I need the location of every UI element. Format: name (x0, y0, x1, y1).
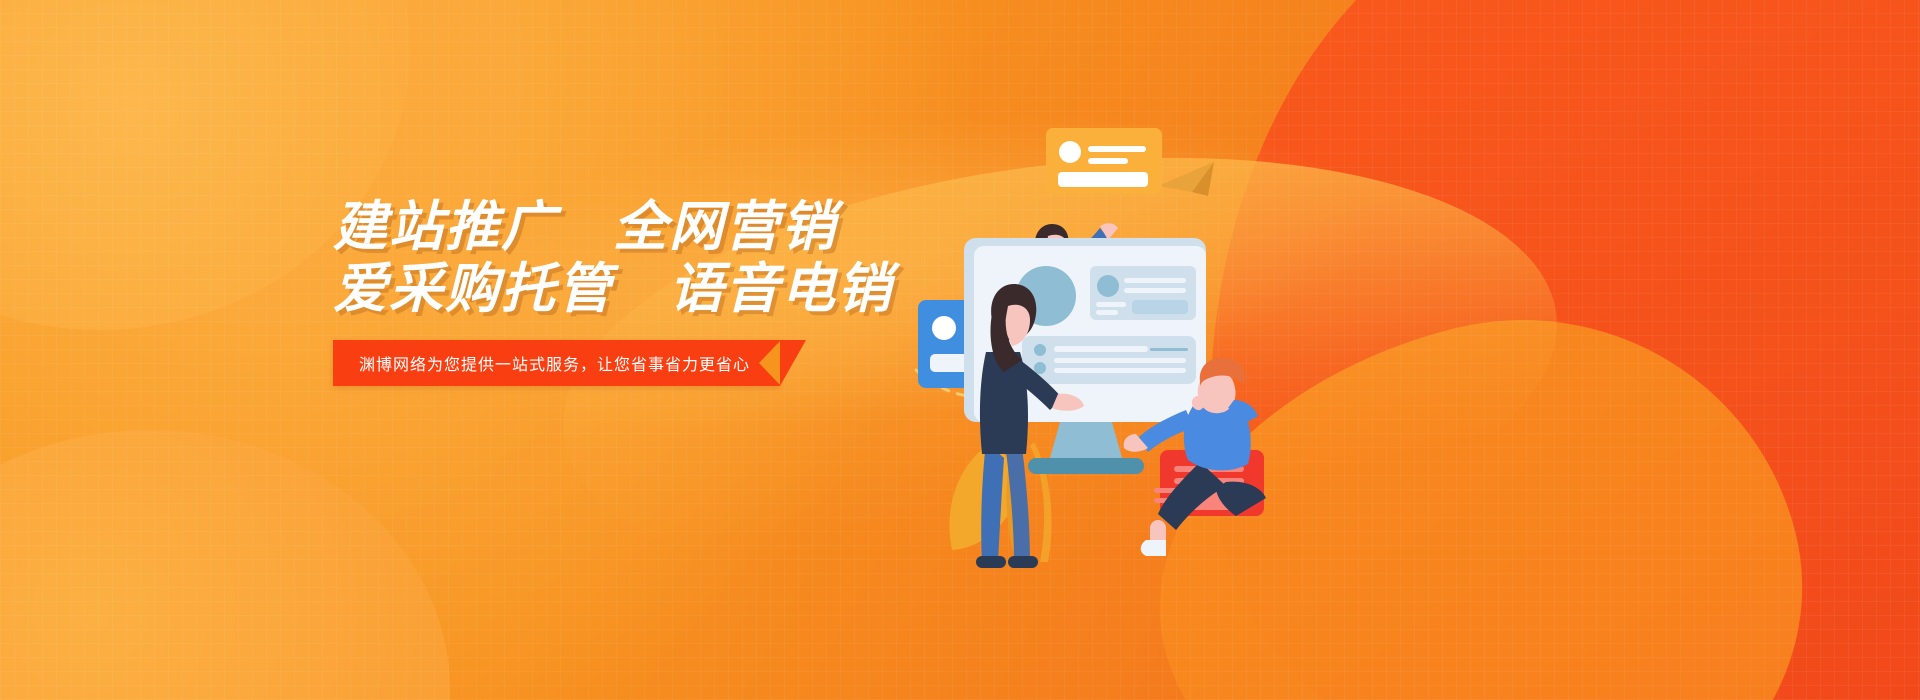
yellow-card (1046, 128, 1162, 194)
ribbon-notch (759, 340, 781, 386)
headline-line-1: 建站推广 全网营销 (333, 196, 893, 258)
headline-line-2: 爱采购托管 语音电销 (333, 258, 893, 320)
paper-plane-icon (1158, 162, 1214, 196)
tagline-text: 渊博网络为您提供一站式服务，让您省事省力更省心 (359, 351, 750, 375)
tagline-ribbon: 渊博网络为您提供一站式服务，让您省事省力更省心 (333, 340, 780, 386)
hero-illustration (900, 110, 1320, 580)
promo-banner: 建站推广 全网营销 爱采购托管 语音电销 渊博网络为您提供一站式服务，让您省事省… (0, 0, 1920, 700)
headline-block: 建站推广 全网营销 爱采购托管 语音电销 (333, 196, 893, 320)
